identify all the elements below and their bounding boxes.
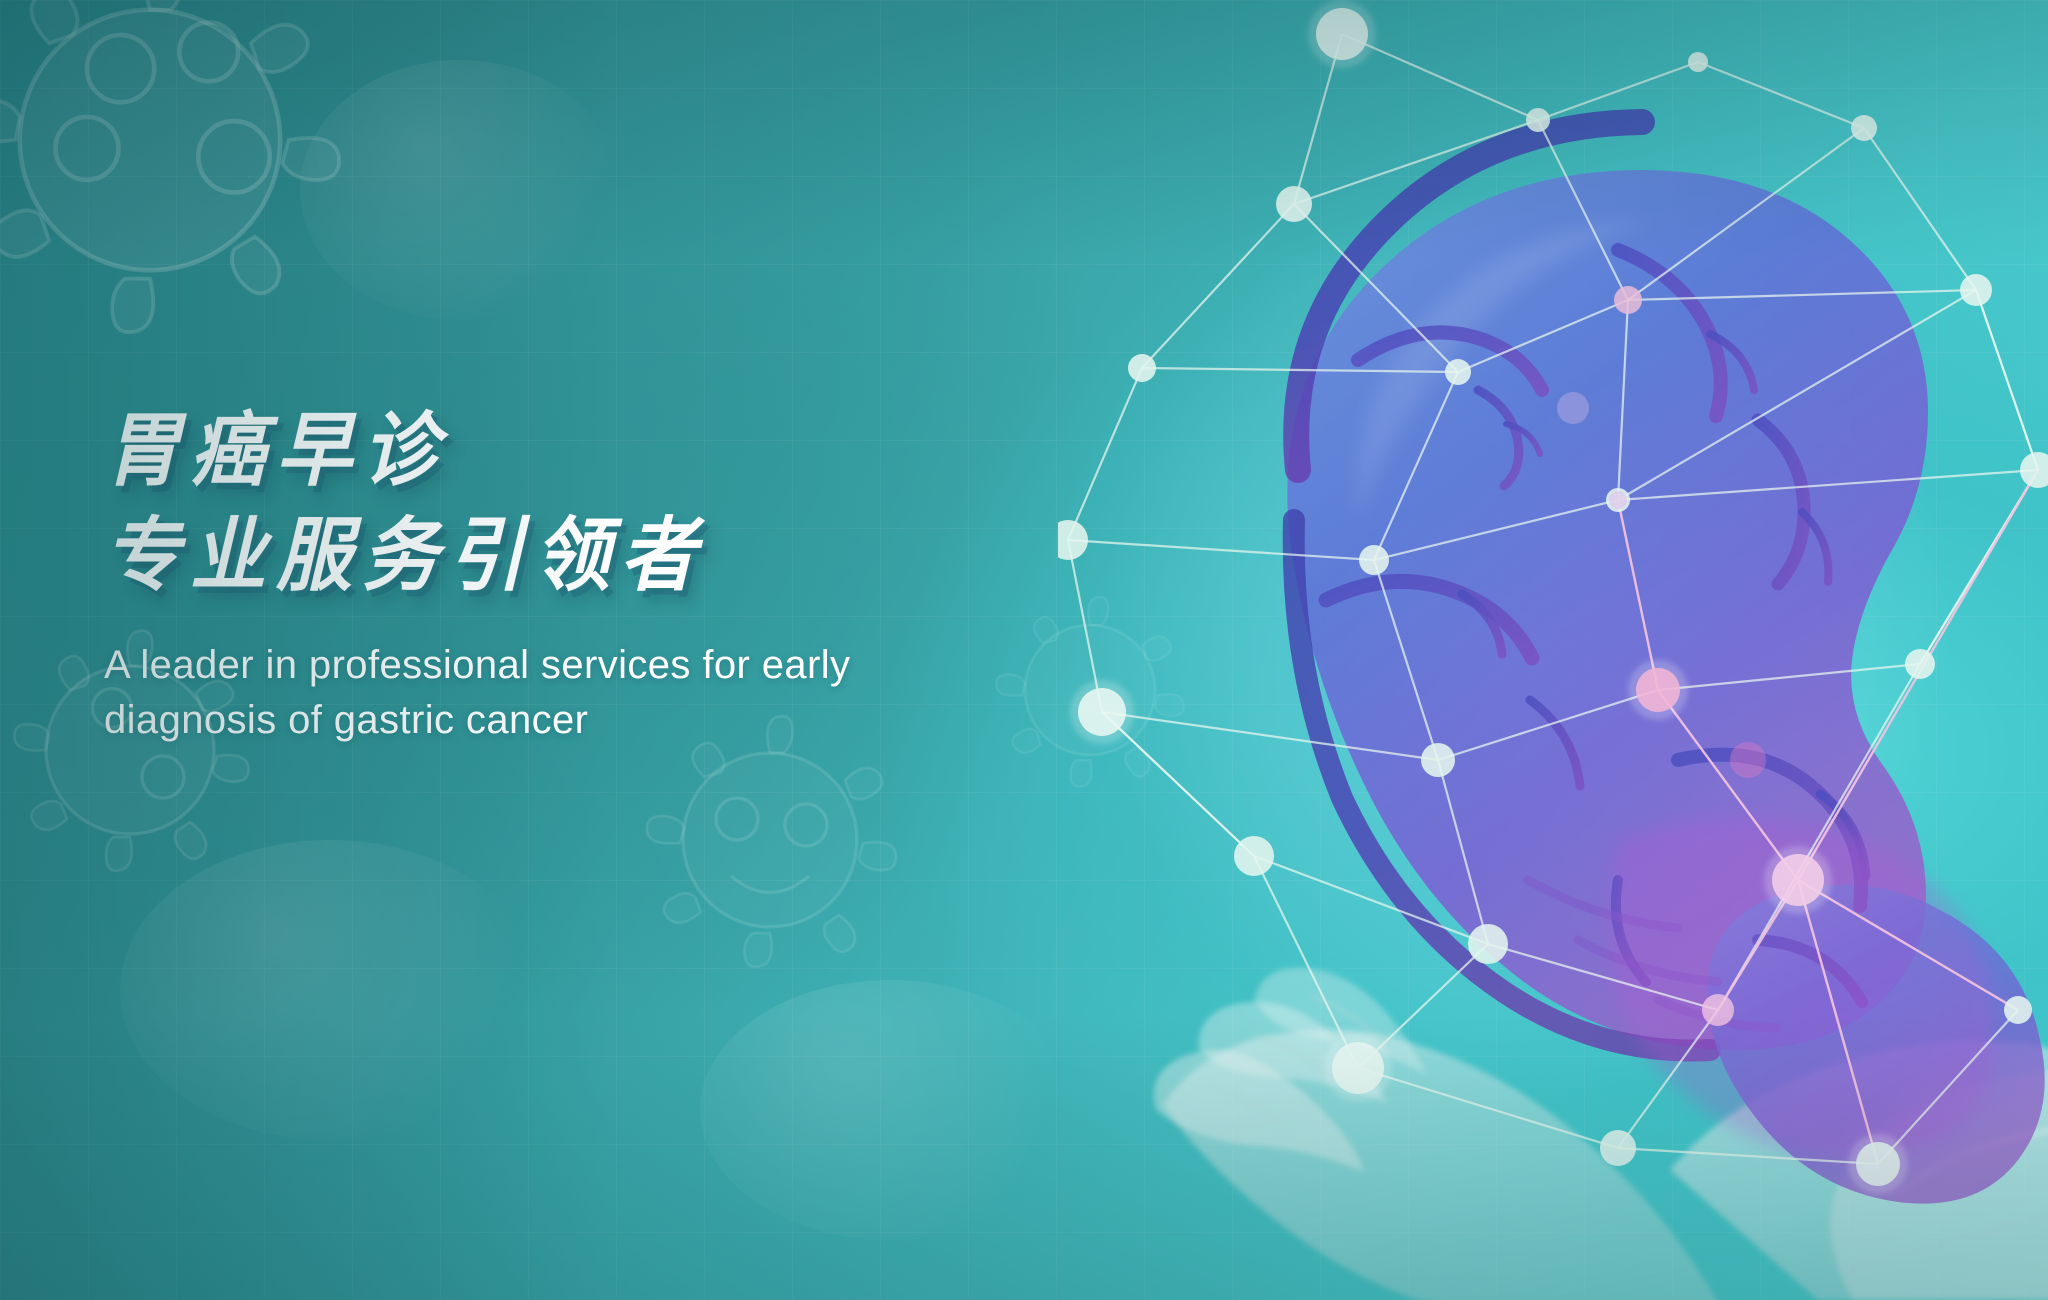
subtitle-en: A leader in professional services for ea… bbox=[104, 638, 1084, 748]
subtitle-en-line1: A leader in professional services for ea… bbox=[104, 638, 1084, 693]
headline-cn-line1: 胃癌早诊 bbox=[104, 404, 1204, 498]
hero-artwork bbox=[1058, 0, 2048, 1300]
subtitle-en-line2: diagnosis of gastric cancer bbox=[104, 693, 1084, 748]
headline-cn-line2: 专业服务引领者 bbox=[104, 509, 1204, 603]
headline-block: 胃癌早诊 专业服务引领者 A leader in professional se… bbox=[104, 404, 1204, 748]
banner-root: 胃癌早诊 专业服务引领者 A leader in professional se… bbox=[0, 0, 2048, 1300]
